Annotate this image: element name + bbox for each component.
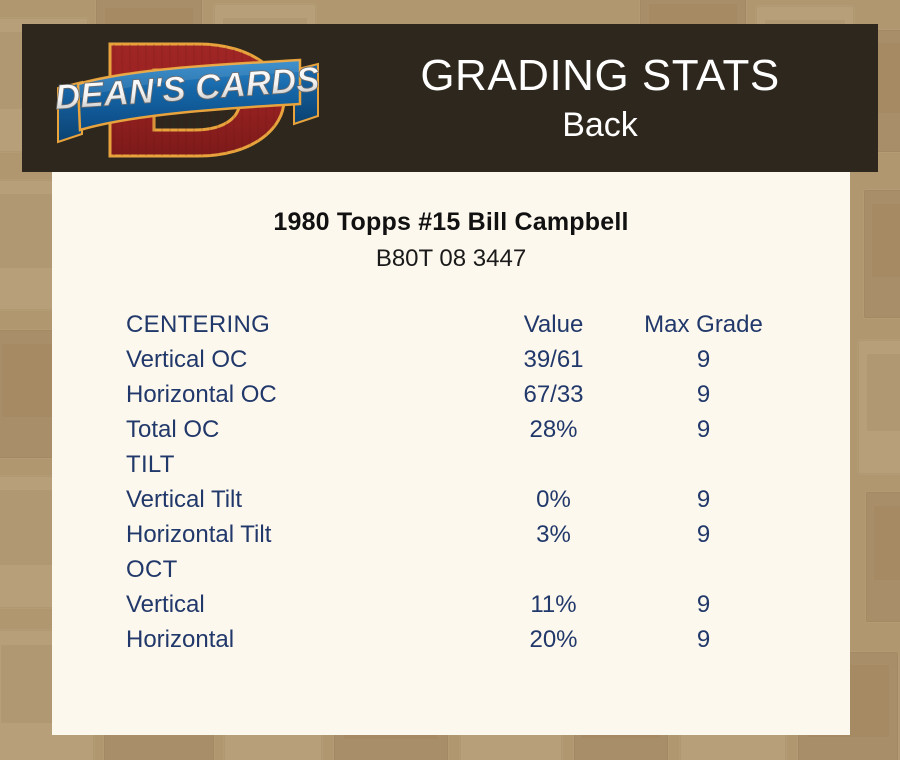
header-bar: DEAN'S CARDS GRADING STATS Back [22,24,878,172]
row-label: Total OC [126,412,476,447]
row-label: Horizontal [126,622,476,657]
row-label: Vertical OC [126,342,476,377]
table-header-row: CENTERING Value Max Grade [126,307,776,342]
page-title: GRADING STATS [420,51,779,101]
card-serial-number: B80T 08 3447 [52,245,850,273]
logo-graphic: DEAN'S CARDS [48,30,328,170]
row-max-grade: 9 [631,482,776,517]
row-label: Horizontal OC [126,377,476,412]
row-label: Vertical Tilt [126,482,476,517]
table-row: Total OC 28% 9 [126,412,776,447]
row-value: 28% [476,412,631,447]
column-header-category: CENTERING [126,307,476,342]
table-head: CENTERING Value Max Grade [126,307,776,342]
row-max-grade: 9 [631,377,776,412]
table-row: Horizontal Tilt 3% 9 [126,517,776,552]
row-max-grade: 9 [631,622,776,657]
table-body: Vertical OC 39/61 9 Horizontal OC 67/33 … [126,342,776,657]
deans-cards-logo[interactable]: DEAN'S CARDS [48,30,328,170]
row-value: 0% [476,482,631,517]
table-row: Vertical Tilt 0% 9 [126,482,776,517]
row-value: 3% [476,517,631,552]
row-max-grade: 9 [631,517,776,552]
table-row: Vertical 11% 9 [126,587,776,622]
section-header-row-tilt: TILT [126,447,776,482]
row-max-grade: 9 [631,412,776,447]
row-label: Horizontal Tilt [126,517,476,552]
row-max-grade: 9 [631,342,776,377]
row-value: 67/33 [476,377,631,412]
column-header-max-grade: Max Grade [631,307,776,342]
section-header-label: OCT [126,552,476,587]
row-label: Vertical [126,587,476,622]
table-row: Horizontal 20% 9 [126,622,776,657]
section-header-label: TILT [126,447,476,482]
row-value: 11% [476,587,631,622]
row-value: 39/61 [476,342,631,377]
column-header-value: Value [476,307,631,342]
grading-stats-table: CENTERING Value Max Grade Vertical OC 39… [126,307,776,657]
row-max-grade: 9 [631,587,776,622]
row-value: 20% [476,622,631,657]
content-panel: 1980 Topps #15 Bill Campbell B80T 08 344… [52,172,850,735]
table-row: Horizontal OC 67/33 9 [126,377,776,412]
page-subtitle: Back [562,105,638,145]
section-header-row-oct: OCT [126,552,776,587]
table-row: Vertical OC 39/61 9 [126,342,776,377]
card-title: 1980 Topps #15 Bill Campbell [52,208,850,237]
